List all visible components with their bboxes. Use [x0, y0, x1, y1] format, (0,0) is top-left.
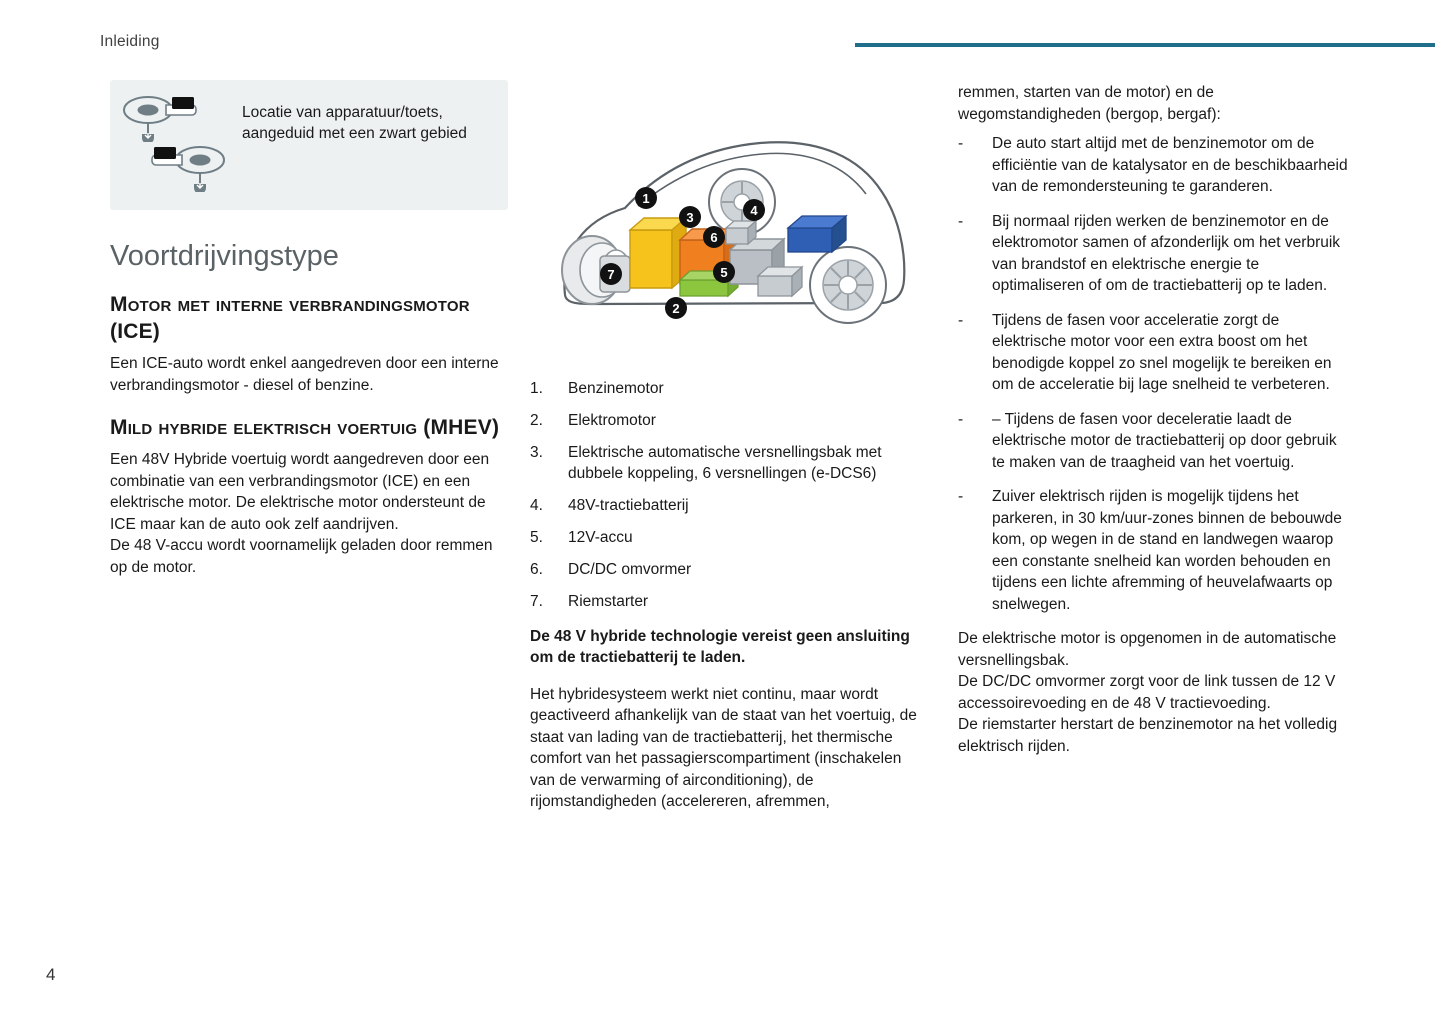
- paragraph-mhev-2: De 48 V-accu wordt voornamelijk geladen …: [110, 535, 508, 578]
- paragraph-tail-2: De DC/DC omvormer zorgt voor de link tus…: [958, 671, 1350, 714]
- section-label: Inleiding: [100, 33, 160, 51]
- list-item: - De auto start altijd met de benzinemot…: [958, 133, 1350, 198]
- svg-text:3: 3: [686, 210, 693, 225]
- paragraph-mhev-1: Een 48V Hybride voertuig wordt aangedrev…: [110, 449, 508, 535]
- paragraph-tail-3: De riemstarter herstart de benzinemotor …: [958, 714, 1350, 757]
- note-icon-group: [122, 94, 228, 194]
- list-item: 6. DC/DC omvormer: [530, 559, 930, 580]
- heading-mhev: Mild hybride elektrisch voertuig (MHEV): [110, 414, 508, 441]
- note-text: Locatie van apparatuur/toets, aangeduid …: [242, 94, 496, 194]
- list-item: - – Tijdens de fasen voor deceleratie la…: [958, 409, 1350, 474]
- list-item: - Tijdens de fasen voor acceleratie zorg…: [958, 310, 1350, 396]
- paragraph-intro-continued: remmen, starten van de motor) en de wego…: [958, 82, 1350, 125]
- legend-text: Elektrische automatische versnellingsbak…: [568, 442, 930, 484]
- bullet-dash: -: [958, 211, 992, 297]
- legend-number: 3.: [530, 442, 568, 484]
- legend-number: 1.: [530, 378, 568, 399]
- list-item: - Zuiver elektrisch rijden is mogelijk t…: [958, 486, 1350, 615]
- bullet-dash: -: [958, 486, 992, 615]
- list-item: 3. Elektrische automatische versnellings…: [530, 442, 930, 484]
- steering-wheel-left-icon: [122, 96, 226, 142]
- legend-text: DC/DC omvormer: [568, 559, 930, 580]
- list-item: 2. Elektromotor: [530, 410, 930, 431]
- list-item: 5. 12V-accu: [530, 527, 930, 548]
- svg-text:5: 5: [720, 265, 727, 280]
- heading-ice: Motor met interne verbrandingsmotor (ICE…: [110, 291, 508, 345]
- bullet-text: – Tijdens de fasen voor deceleratie laad…: [992, 409, 1350, 474]
- svg-text:1: 1: [642, 191, 649, 206]
- column-center: 1 2 3 4 5 6 7 1. Benzinemotor 2. Elektro…: [530, 80, 930, 813]
- steering-wheel-right-icon: [122, 146, 226, 192]
- column-left: Locatie van apparatuur/toets, aangeduid …: [110, 80, 508, 578]
- paragraph-tail-1: De elektrische motor is opgenomen in de …: [958, 628, 1350, 671]
- list-item: 7. Riemstarter: [530, 591, 930, 612]
- bold-note: De 48 V hybride technologie vereist geen…: [530, 626, 930, 668]
- legend-number: 6.: [530, 559, 568, 580]
- paragraph-ice: Een ICE-auto wordt enkel aangedreven doo…: [110, 353, 508, 396]
- column-right: remmen, starten van de motor) en de wego…: [958, 82, 1350, 757]
- legend-number: 4.: [530, 495, 568, 516]
- legend-number: 7.: [530, 591, 568, 612]
- header-accent-bar: [855, 43, 1435, 47]
- list-item: 1. Benzinemotor: [530, 378, 930, 399]
- svg-text:4: 4: [750, 203, 758, 218]
- figure-legend: 1. Benzinemotor 2. Elektromotor 3. Elekt…: [530, 378, 930, 612]
- page-title: Voortdrijvingstype: [110, 240, 508, 273]
- legend-text: Benzinemotor: [568, 378, 930, 399]
- svg-text:2: 2: [672, 301, 679, 316]
- bullet-dash: -: [958, 133, 992, 198]
- bullet-dash: -: [958, 409, 992, 474]
- svg-text:6: 6: [710, 230, 717, 245]
- paragraph-hybrid-system: Het hybridesysteem werkt niet continu, m…: [530, 684, 930, 813]
- note-box: Locatie van apparatuur/toets, aangeduid …: [110, 80, 508, 210]
- bullet-text: De auto start altijd met de benzinemotor…: [992, 133, 1350, 198]
- legend-text: 12V-accu: [568, 527, 930, 548]
- list-item: 4. 48V-tractiebatterij: [530, 495, 930, 516]
- bullet-text: Tijdens de fasen voor acceleratie zorgt …: [992, 310, 1350, 396]
- svg-text:7: 7: [607, 267, 614, 282]
- hybrid-powertrain-diagram: 1 2 3 4 5 6 7: [530, 80, 930, 370]
- document-page: Inleiding: [0, 0, 1445, 1018]
- list-item: - Bij normaal rijden werken de benzinemo…: [958, 211, 1350, 297]
- legend-text: Riemstarter: [568, 591, 930, 612]
- bullet-text: Bij normaal rijden werken de benzinemoto…: [992, 211, 1350, 297]
- legend-text: Elektromotor: [568, 410, 930, 431]
- bullet-text: Zuiver elektrisch rijden is mogelijk tij…: [992, 486, 1350, 615]
- page-number: 4: [46, 965, 55, 985]
- bullet-dash: -: [958, 310, 992, 396]
- legend-number: 5.: [530, 527, 568, 548]
- legend-number: 2.: [530, 410, 568, 431]
- legend-text: 48V-tractiebatterij: [568, 495, 930, 516]
- bullet-list: - De auto start altijd met de benzinemot…: [958, 133, 1350, 615]
